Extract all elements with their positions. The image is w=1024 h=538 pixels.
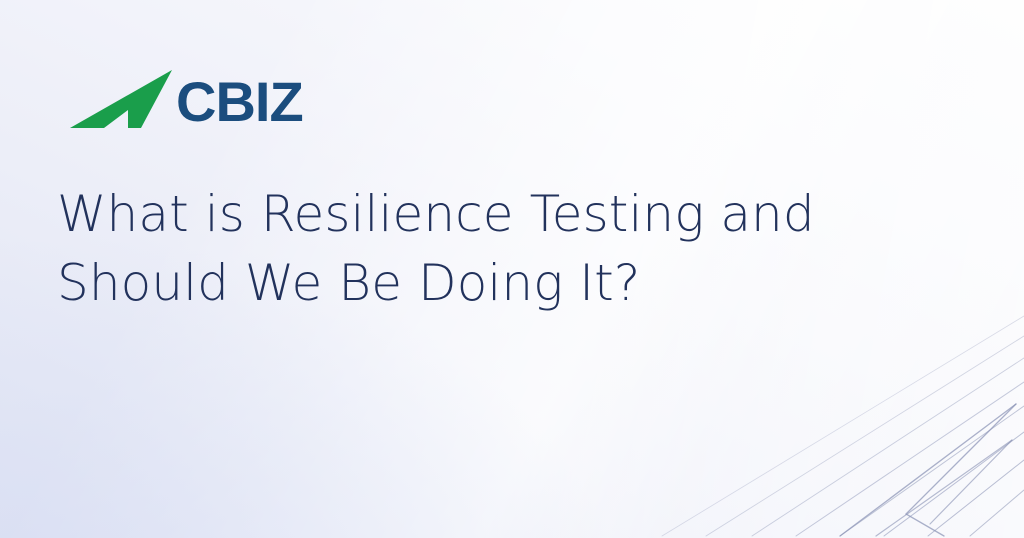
cbiz-logo[interactable]: CBIZ — [68, 68, 328, 132]
cbiz-arrow-mark — [68, 68, 180, 132]
page-title-line-2: Should We Be Doing It? — [57, 249, 887, 318]
page-title: What is Resilience Testing and Should We… — [57, 180, 887, 318]
page-title-line-1: What is Resilience Testing and — [57, 180, 887, 249]
title-card: CBIZ What is Resilience Testing and Shou… — [0, 0, 1024, 538]
cbiz-wordmark-text: CBIZ — [176, 76, 303, 132]
cbiz-wordmark: CBIZ — [176, 76, 328, 132]
